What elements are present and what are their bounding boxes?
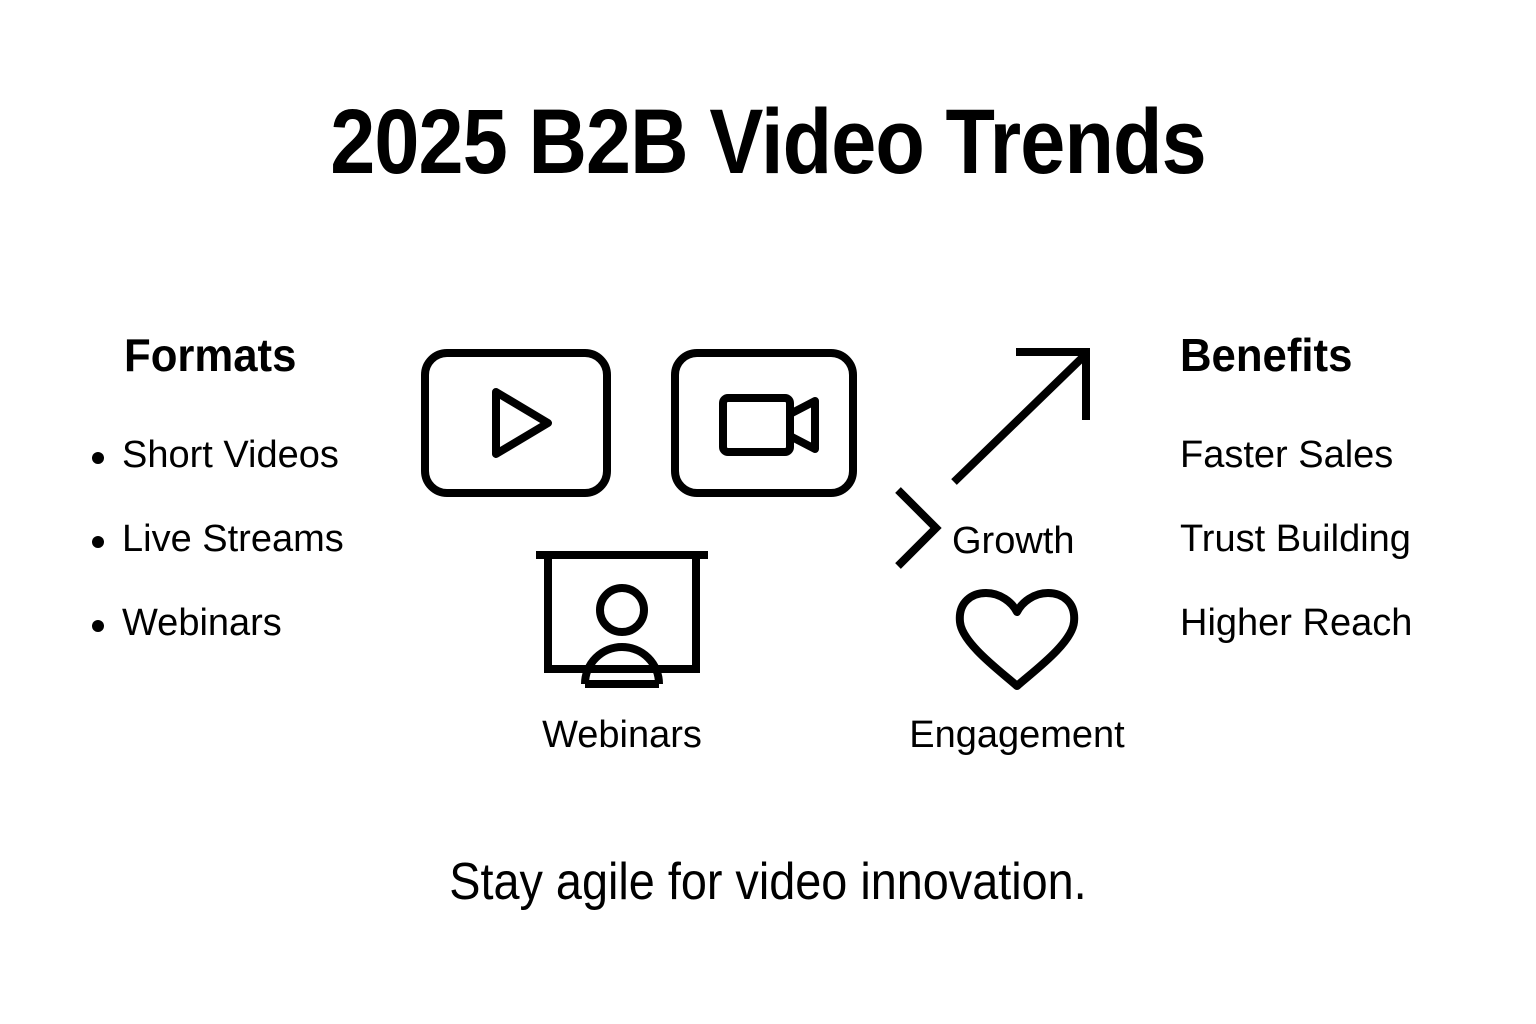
page-title: 2025 B2B Video Trends [92,96,1444,188]
footer-tagline: Stay agile for video innovation. [77,856,1459,908]
benefits-list: Faster Sales Trust Building Higher Reach [1180,436,1520,688]
formats-list: Short Videos Live Streams Webinars [92,436,432,688]
formats-item-label: Webinars [122,604,282,642]
formats-column: Formats Short Videos Live Streams Webina… [92,332,412,378]
list-item: Short Videos [92,436,432,520]
bullet-dot-icon [92,452,104,464]
benefits-column: Benefits Faster Sales Trust Building Hig… [1180,332,1510,378]
formats-item-label: Short Videos [122,436,339,474]
webinars-label: Webinars [482,716,762,754]
bullet-dot-icon [92,620,104,632]
growth-label: Growth [952,522,1152,560]
infographic-canvas: 2025 B2B Video Trends Formats Short Vide… [0,0,1536,1024]
play-button-icon [420,348,612,498]
engagement-label: Engagement [862,716,1172,754]
formats-heading: Formats [124,332,398,378]
list-item: Live Streams [92,520,432,604]
webinar-presentation-icon [532,548,712,688]
list-item: Faster Sales [1180,436,1520,520]
heart-icon [952,588,1082,692]
benefits-heading: Benefits [1180,332,1494,378]
video-camera-icon [670,348,858,498]
bullet-dot-icon [92,536,104,548]
list-item: Higher Reach [1180,604,1520,688]
formats-item-label: Live Streams [122,520,344,558]
list-item: Trust Building [1180,520,1520,604]
list-item: Webinars [92,604,432,688]
